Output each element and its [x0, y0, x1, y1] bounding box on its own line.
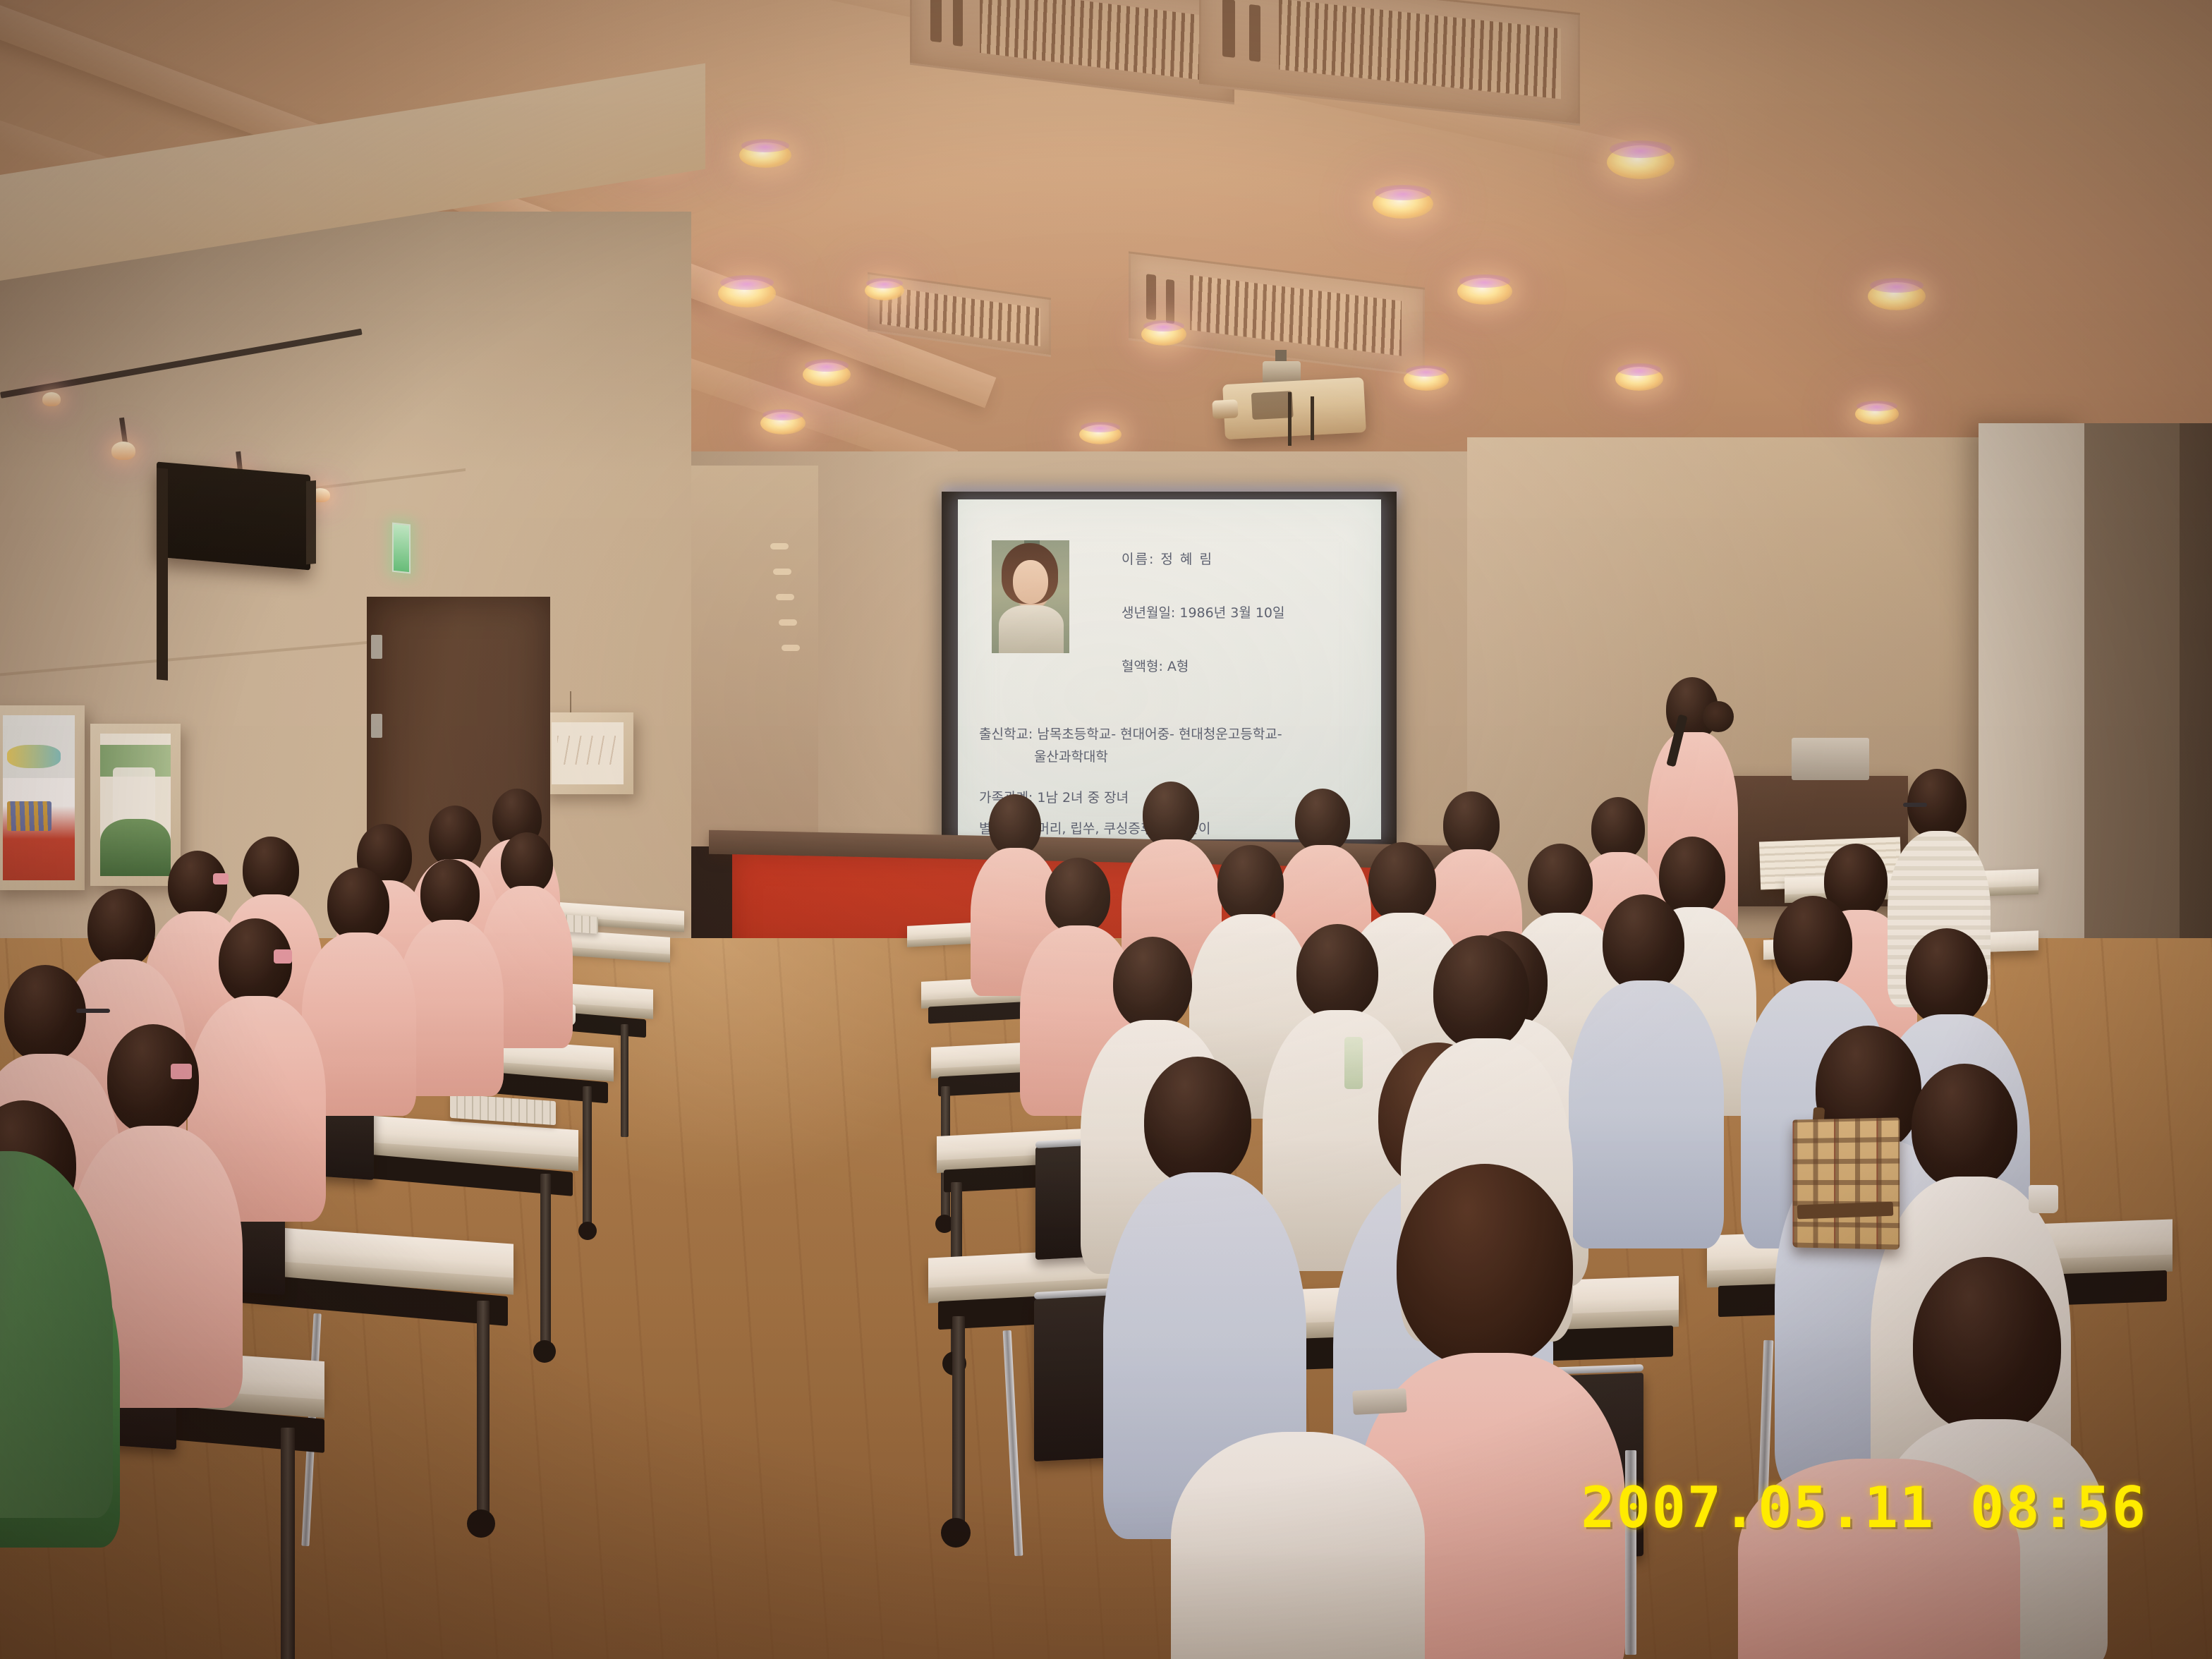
eyeglasses [76, 1009, 110, 1013]
desk-castor [467, 1509, 495, 1538]
ceiling-downlight [760, 412, 806, 435]
plaid-handbag [1793, 1117, 1900, 1249]
eyeglasses [1903, 803, 1927, 807]
ceiling-downlight [1615, 367, 1663, 391]
front-wall-left-panel [677, 466, 818, 846]
water-bottle [1344, 1037, 1363, 1089]
slide-school-line-2: 울산과학대학 [1034, 746, 1108, 765]
desk-leg [281, 1428, 295, 1659]
desk-castor [533, 1340, 556, 1363]
door-hinge [371, 635, 382, 659]
projector-vent [1251, 391, 1294, 420]
slide-bloodtype-line: 혈액형: A형 [1122, 656, 1189, 675]
framed-artwork [542, 712, 633, 794]
mobile-phone[interactable] [1352, 1388, 1407, 1415]
desk-leg [540, 1174, 551, 1350]
framed-artwork [0, 705, 85, 890]
paper-cup [2029, 1185, 2058, 1213]
wall-light-slot [782, 645, 800, 651]
desk-leg [621, 1024, 628, 1137]
spotlight [111, 442, 135, 460]
wall-light-slot [773, 569, 791, 575]
desk-leg [477, 1301, 490, 1519]
camera-timestamp: 2007.05.11 08:56 [1581, 1475, 2147, 1540]
photo-scene: 이름: 정 혜 림 생년월일: 1986년 3월 10일 혈액형: A형 출신학… [0, 0, 2212, 1659]
laptop[interactable] [1792, 738, 1869, 780]
ceiling-downlight [718, 279, 776, 308]
wall-light-slot [770, 543, 789, 549]
ceiling-downlight [865, 281, 904, 300]
spotlight [42, 392, 61, 406]
slide-school-line-1: 출신학교: 남목초등학교- 현대어중- 현대청운고등학교- [979, 724, 1282, 743]
ceiling-downlight [1868, 282, 1926, 310]
slide-name-line: 이름: 정 혜 림 [1122, 549, 1213, 568]
framed-artwork [90, 724, 181, 886]
ceiling-downlight [1457, 278, 1512, 305]
ceiling-downlight [1079, 425, 1122, 444]
ceiling-downlight [1607, 145, 1675, 179]
ceiling-downlight [803, 363, 851, 387]
door-hinge [371, 714, 382, 738]
wall-light-slot [779, 619, 797, 626]
hair-clip [274, 949, 292, 964]
ceiling-downlight [1373, 189, 1433, 219]
desk-leg [952, 1316, 965, 1528]
wall-monitor [157, 461, 310, 570]
hair-clip [171, 1064, 192, 1079]
wall-light-slot [776, 594, 794, 600]
ceiling-downlight [1141, 323, 1186, 346]
wall-monitor-shadow [157, 468, 168, 680]
exit-sign [392, 523, 411, 574]
ceiling-downlight [1855, 403, 1899, 425]
ceiling-downlight [739, 142, 791, 168]
desk-castor [578, 1222, 597, 1240]
hair-clip [213, 873, 229, 885]
ceiling-downlight [1404, 368, 1449, 391]
slide-dob-line: 생년월일: 1986년 3월 10일 [1122, 602, 1285, 621]
projector-cable [1311, 396, 1335, 440]
desk-leg [583, 1086, 592, 1227]
desk-castor [941, 1518, 971, 1548]
projector-lens-icon [1212, 399, 1238, 419]
